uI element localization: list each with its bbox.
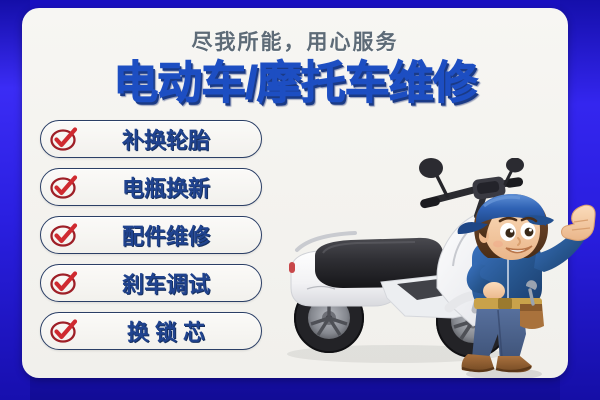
service-item-3[interactable]: 刹车调试 — [40, 264, 262, 302]
service-item-label: 配件维修 — [79, 219, 261, 251]
tagline-text: 尽我所能，用心服务 — [22, 26, 568, 56]
check-circle-icon — [49, 268, 79, 298]
page-title: 电动车/摩托车维修 — [22, 60, 568, 105]
service-item-label: 补换轮胎 — [79, 123, 261, 155]
thumbs-up-icon — [562, 205, 596, 240]
service-item-1[interactable]: 电瓶换新 — [40, 168, 262, 206]
check-circle-icon — [49, 172, 79, 202]
service-item-label: 刹车调试 — [79, 267, 261, 299]
service-list: 补换轮胎 电瓶换新 配件维修 — [40, 120, 290, 360]
hand-left — [483, 282, 505, 300]
service-item-4[interactable]: 换锁芯 — [40, 312, 262, 350]
mechanic-character — [438, 192, 598, 384]
service-item-2[interactable]: 配件维修 — [40, 216, 262, 254]
check-circle-icon — [49, 220, 79, 250]
service-item-0[interactable]: 补换轮胎 — [40, 120, 262, 158]
service-item-label: 电瓶换新 — [79, 171, 261, 203]
poster-canvas: 尽我所能，用心服务 电动车/摩托车维修 补换轮胎 — [0, 0, 600, 400]
check-circle-icon — [49, 124, 79, 154]
check-circle-icon — [49, 316, 79, 346]
service-item-label: 换锁芯 — [79, 315, 261, 347]
